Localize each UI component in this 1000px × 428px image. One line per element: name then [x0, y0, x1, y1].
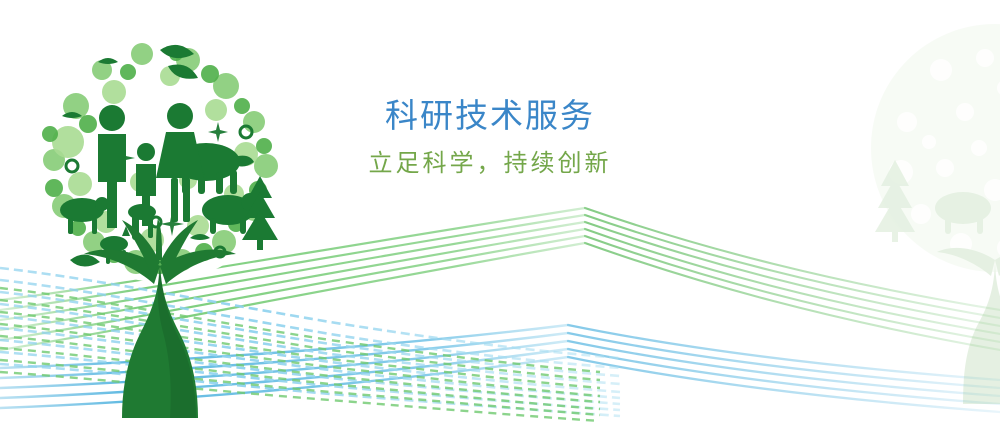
tree-right-canopy	[869, 22, 1000, 274]
ribbon-green-fan-lines	[0, 288, 600, 421]
headline-block: 科研技术服务 立足科学，持续创新	[330, 96, 650, 180]
tree-illustration-left	[10, 14, 310, 424]
ribbon-blue-left-lines	[0, 325, 568, 408]
ribbon-blue-fan-lines	[0, 268, 620, 416]
tree-right-trunk	[937, 248, 1000, 404]
tree-left-family-figures	[98, 103, 204, 228]
canopy-backplate	[32, 26, 288, 282]
figure-man	[98, 105, 126, 228]
figure-woman	[156, 103, 204, 222]
ribbon-blue-right-lines	[568, 325, 1000, 412]
figure-child	[136, 143, 156, 226]
tree-illustration-right	[845, 8, 1000, 418]
page-subtitle: 立足科学，持续创新	[330, 148, 650, 180]
ribbon-green-right-lines	[585, 208, 1000, 350]
tree-left-canopy	[42, 43, 278, 274]
tree-left-trunk	[84, 218, 236, 418]
banner-root: 科研技术服务 立足科学，持续创新	[0, 0, 1000, 428]
ribbon-band-right	[0, 0, 1000, 428]
ribbon-band-left	[0, 0, 1000, 428]
page-title: 科研技术服务	[330, 96, 650, 136]
ribbon-green-left-lines	[0, 208, 585, 350]
